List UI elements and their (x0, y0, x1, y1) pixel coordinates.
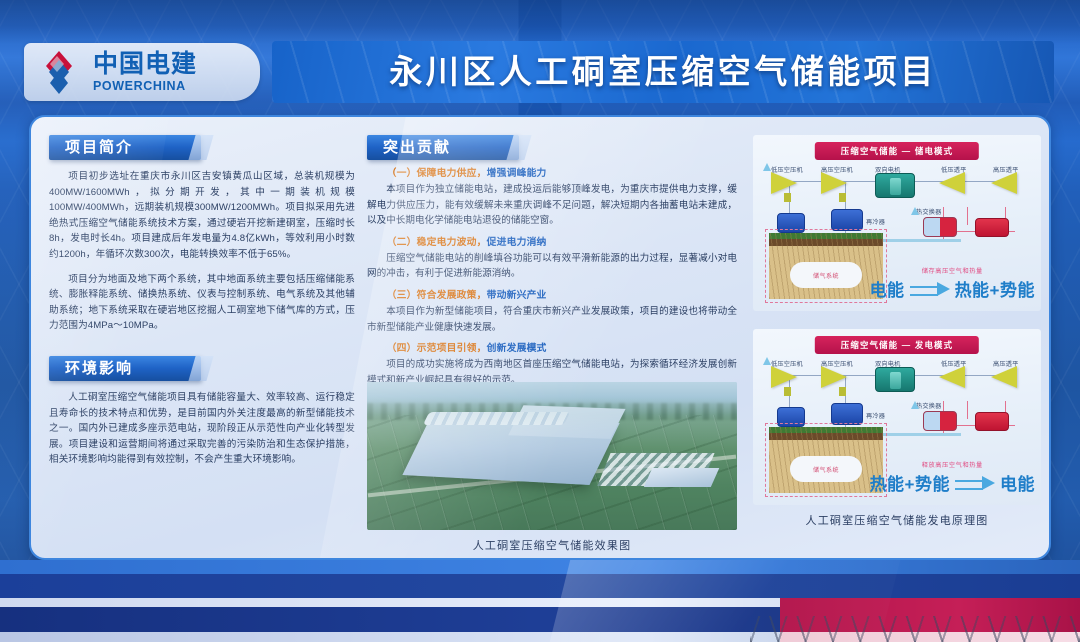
icon-aftercooler-1 (831, 209, 863, 231)
bottom-decorative-band (0, 560, 1080, 642)
cavern-gas-storage-1: 储气系统 (790, 262, 863, 288)
contribution-item-2: （二）稳定电力波动，促进电力消纳 压缩空气储能电站的削峰填谷功能可以有效平滑新能… (367, 235, 737, 282)
contribution-item-1: （一）保障电力供应，增强调峰能力 本项目作为独立储能电站，建成投运后能够顶峰发电… (367, 166, 737, 229)
base-lp-compressor-1 (784, 193, 791, 202)
powerchina-logo-icon (32, 47, 86, 97)
contribution-body-2: 压缩空气储能电站的削峰填谷功能可以有效平滑新能源的出力过程，显著减小对电网的冲击… (367, 251, 737, 282)
band-stripe-1 (0, 560, 1080, 574)
arrow-air-intake-2 (763, 357, 771, 365)
icon-hp-compressor-1 (821, 172, 847, 194)
contribution-body-1: 本项目作为独立储能电站，建成投运后能够顶峰发电，为重庆市提供电力支撑，缓解电力供… (367, 182, 737, 229)
energy-equation-2: 释放高压空气和热量 热能+势能 电能 (870, 460, 1035, 495)
environmental-impact-paragraph-1: 人工硐室压缩空气储能项目具有储能容量大、效率较高、运行稳定且寿命长的技术特点和优… (49, 390, 355, 468)
brand-logo-text: 中国电建 POWERCHINA (93, 52, 197, 93)
arrow-heat-flow-2 (911, 401, 919, 409)
label-hp-turbine-2: 高压透平 (993, 359, 1019, 368)
arrow-heat-flow-1 (911, 207, 919, 215)
section-heading-contributions: 突出贡献 (367, 135, 519, 160)
contribution-title-a-3: 符合发展政策， (417, 290, 487, 301)
project-rendering-figure: 人工硐室压缩空气储能效果图 (367, 382, 737, 530)
icon-lp-turbine-1 (939, 172, 965, 194)
energy-from-2: 热能+势能 (870, 470, 950, 495)
label-heat-exchanger-2: 热交换器 (916, 401, 942, 410)
column-right: 压缩空气储能 — 储电模式 低压空压机 高压空压机 双向电机 (753, 135, 1041, 528)
energy-from-1: 电能 (870, 276, 905, 301)
top-shadow (0, 0, 1080, 44)
icon-lp-compressor-1 (771, 172, 797, 194)
contribution-title-2: （二）稳定电力波动，促进电力消纳 (367, 235, 737, 251)
contribution-title-3: （三）符合发展政策，带动新兴产业 (367, 288, 737, 304)
band-stripe-2 (0, 574, 1080, 598)
energy-to-1: 热能+势能 (955, 276, 1035, 301)
base-lp-compressor-2 (784, 387, 791, 396)
contribution-title-a-1: 保障电力供应， (417, 168, 487, 179)
project-intro-paragraph-2: 项目分为地面及地下两个系统，其中地面系统主要包括压缩储能系统、膨胀释能系统、储换… (49, 272, 355, 334)
column-left: 项目简介 项目初步选址在重庆市永川区吉安镇黄瓜山区域，总装机规模为400MW/1… (49, 135, 355, 468)
contribution-body-3: 本项目作为新型储能项目，符合重庆市新兴产业发展政策，项目的建设也将带动全市新型储… (367, 304, 737, 335)
right-arrow-icon-1 (910, 283, 950, 295)
contribution-title-b-2: 促进电力消纳 (487, 237, 547, 248)
band-red-accent (780, 598, 1080, 632)
label-hp-turbine-1: 高压透平 (993, 165, 1019, 174)
section-heading-environmental-impact: 环境影响 (49, 356, 201, 381)
base-hp-compressor-2 (839, 387, 846, 396)
project-intro-paragraph-1: 项目初步选址在重庆市永川区吉安镇黄瓜山区域，总装机规模为400MW/1600MW… (49, 169, 355, 263)
label-gas-storage-1: 储气系统 (813, 271, 839, 280)
diagram-generating-banner: 压缩空气储能 — 发电模式 (815, 336, 979, 354)
energy-to-2: 电能 (1000, 470, 1035, 495)
poster-title-bar: 永川区人工硐室压缩空气储能项目 (272, 41, 1054, 103)
poster-scene: 中国电建 POWERCHINA 永川区人工硐室压缩空气储能项目 项目简介 项目初… (0, 0, 1080, 642)
icon-hp-turbine-1 (991, 172, 1017, 194)
column-middle: 突出贡献 （一）保障电力供应，增强调峰能力 本项目作为独立储能电站，建成投运后能… (367, 135, 737, 388)
contribution-title-b-4: 创新发展模式 (487, 343, 547, 354)
energy-equation-row-2: 热能+势能 电能 (870, 470, 1035, 495)
pipe-mid-riser (967, 207, 968, 225)
pipe-mid-riser-2 (967, 401, 968, 419)
brand-name-en: POWERCHINA (93, 80, 197, 93)
icon-heat-exchanger-2 (923, 411, 957, 431)
label-aftercooler-1: 再冷器 (866, 217, 885, 226)
brand-logo-plate: 中国电建 POWERCHINA (24, 43, 260, 101)
cavern-strata-1: 储气系统 (769, 233, 883, 299)
icon-aftercooler-2 (831, 403, 863, 425)
contribution-title-b-1: 增强调峰能力 (487, 168, 547, 179)
label-aftercooler-2: 再冷器 (866, 411, 885, 420)
cavern-gas-storage-2: 储气系统 (790, 456, 863, 482)
contribution-title-a-4: 示范项目引领， (417, 343, 487, 354)
icon-bidirectional-motor-2 (875, 367, 915, 392)
energy-note-2: 释放高压空气和热量 (870, 460, 1035, 469)
label-lp-compressor-2: 低压空压机 (771, 359, 803, 368)
label-lp-compressor-1: 低压空压机 (771, 165, 803, 174)
section-heading-project-intro: 项目简介 (49, 135, 201, 160)
contribution-title-a-2: 稳定电力波动， (417, 237, 487, 248)
cavern-strata-2: 储气系统 (769, 427, 883, 493)
label-heat-exchanger-1: 热交换器 (916, 207, 942, 216)
right-arrow-icon-2 (955, 477, 995, 489)
icon-lp-compressor-2 (771, 366, 797, 388)
label-hp-compressor-2: 高压空压机 (821, 359, 853, 368)
diagram-charging-mode: 压缩空气储能 — 储电模式 低压空压机 高压空压机 双向电机 (753, 135, 1041, 311)
icon-heat-store-1 (975, 218, 1009, 237)
energy-equation-row-1: 电能 热能+势能 (870, 276, 1035, 301)
project-rendering-caption: 人工硐室压缩空气储能效果图 (367, 537, 737, 553)
icon-lp-turbine-2 (939, 366, 965, 388)
project-rendering-image (367, 382, 737, 530)
brand-name-cn: 中国电建 (93, 52, 197, 77)
arrow-air-intake-1 (763, 163, 771, 171)
band-red-accent-light (780, 632, 1080, 642)
photo-atmospheric-haze (367, 382, 737, 530)
contribution-index-3: （三） (387, 290, 417, 301)
icon-hp-compressor-2 (821, 366, 847, 388)
contribution-index-1: （一） (387, 168, 417, 179)
contribution-title-4: （四）示范项目引领，创新发展模式 (367, 341, 737, 357)
contribution-index-2: （二） (387, 237, 417, 248)
page-title: 永川区人工硐室压缩空气储能项目 (272, 41, 1054, 103)
poster-header: 中国电建 POWERCHINA 永川区人工硐室压缩空气储能项目 (24, 41, 1054, 103)
diagram-charging-banner: 压缩空气储能 — 储电模式 (815, 142, 979, 160)
label-hp-compressor-1: 高压空压机 (821, 165, 853, 174)
energy-equation-1: 储存高压空气和热量 电能 热能+势能 (870, 266, 1035, 301)
label-lp-turbine-1: 低压透平 (941, 165, 967, 174)
icon-bidirectional-motor-1 (875, 173, 915, 198)
contribution-title-1: （一）保障电力供应，增强调峰能力 (367, 166, 737, 182)
base-hp-compressor-1 (839, 193, 846, 202)
label-lp-turbine-2: 低压透平 (941, 359, 967, 368)
icon-hp-turbine-2 (991, 366, 1017, 388)
diagram-caption: 人工硐室压缩空气储能发电原理图 (753, 512, 1041, 528)
diagram-generating-mode: 压缩空气储能 — 发电模式 低压空压机 高压空压机 双向电机 低压透平 (753, 329, 1041, 505)
icon-heat-store-2 (975, 412, 1009, 431)
poster-board: 项目简介 项目初步选址在重庆市永川区吉安镇黄瓜山区域，总装机规模为400MW/1… (29, 115, 1051, 560)
contribution-title-b-3: 带动新兴产业 (487, 290, 547, 301)
contribution-item-3: （三）符合发展政策，带动新兴产业 本项目作为新型储能项目，符合重庆市新兴产业发展… (367, 288, 737, 335)
energy-note-1: 储存高压空气和热量 (870, 266, 1035, 275)
label-gas-storage-2: 储气系统 (813, 465, 839, 474)
contribution-index-4: （四） (387, 343, 417, 354)
icon-heat-exchanger-1 (923, 217, 957, 237)
